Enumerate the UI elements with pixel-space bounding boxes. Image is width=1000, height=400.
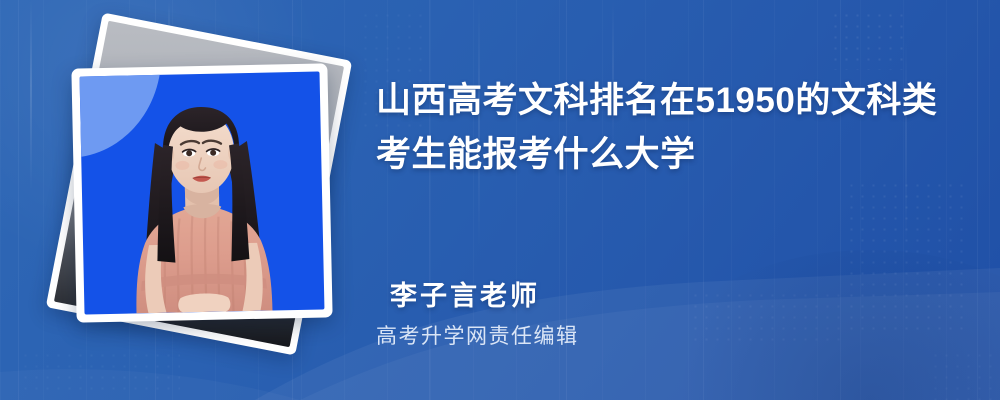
front-photo-card <box>71 63 332 322</box>
article-cover-banner: 山西高考文科排名在51950的文科类考生能报考什么大学 李子言老师 高考升学网责… <box>0 0 1000 400</box>
portrait-photo <box>80 72 325 315</box>
page-title: 山西高考文科排名在51950的文科类考生能报考什么大学 <box>376 74 951 182</box>
portrait-figure <box>80 72 325 315</box>
background-light-streak <box>30 0 32 190</box>
text-column: 山西高考文科排名在51950的文科类考生能报考什么大学 李子言老师 高考升学网责… <box>376 0 976 400</box>
author-role: 高考升学网责任编辑 <box>376 320 579 350</box>
author-name: 李子言老师 <box>390 274 540 313</box>
photo-stack <box>46 28 356 358</box>
